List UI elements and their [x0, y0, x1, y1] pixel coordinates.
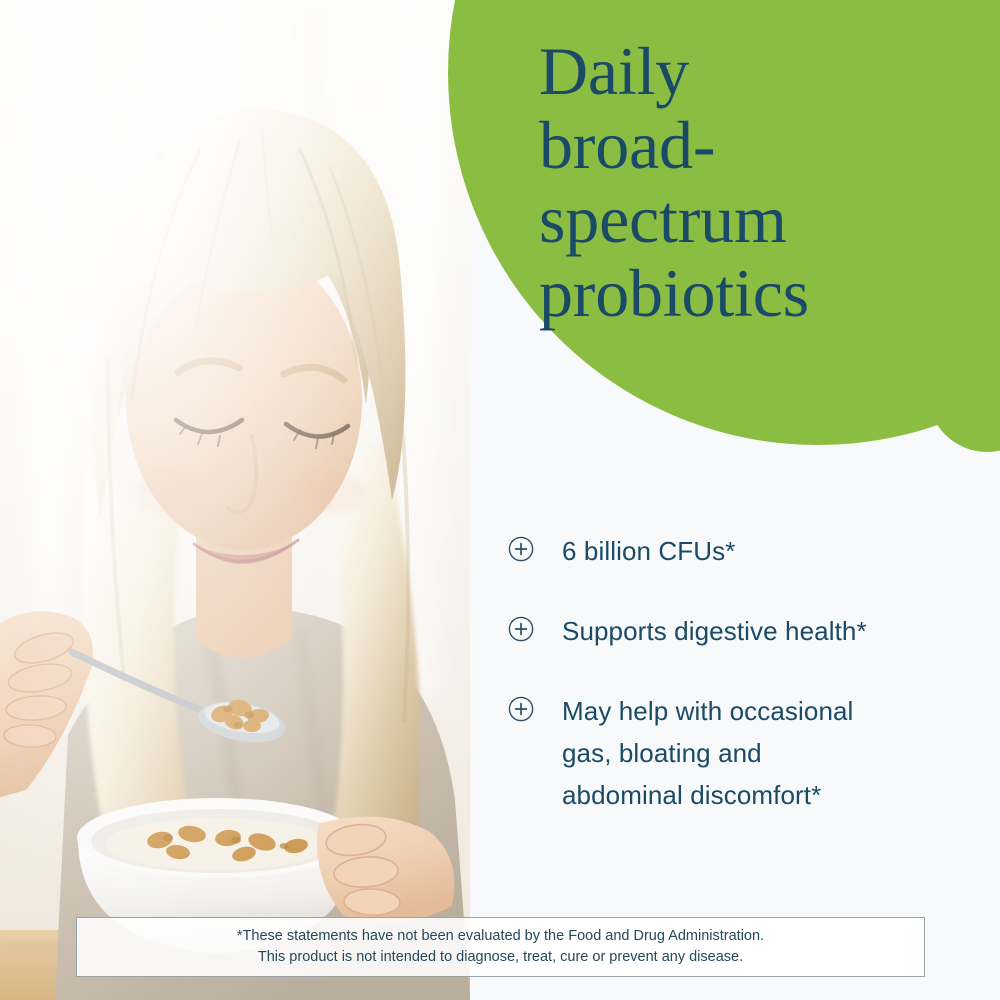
headline-line-2: broad-	[539, 108, 969, 182]
plus-circle-icon	[508, 696, 534, 722]
benefit-text: 6 billion CFUs*	[562, 530, 735, 572]
benefit-item-gas-bloating: May help with occasional gas, bloating a…	[508, 690, 968, 816]
benefit-line: abdominal discomfort*	[562, 774, 853, 816]
disclaimer-line-1: *These statements have not been evaluate…	[237, 926, 764, 947]
benefit-text: Supports digestive health*	[562, 610, 867, 652]
headline-line-1: Daily	[539, 34, 969, 108]
disclaimer-line-2: This product is not intended to diagnose…	[258, 947, 743, 968]
product-benefits-card: Daily broad- spectrum probiotics 6 billi…	[0, 0, 1000, 1000]
headline-line-4: probiotics	[539, 256, 969, 330]
benefit-item-digestive-health: Supports digestive health*	[508, 610, 968, 652]
benefit-item-cfus: 6 billion CFUs*	[508, 530, 968, 572]
fda-disclaimer-box: *These statements have not been evaluate…	[76, 917, 925, 977]
lifestyle-photo	[0, 0, 470, 1000]
benefit-line: gas, bloating and	[562, 732, 853, 774]
page-title: Daily broad- spectrum probiotics	[539, 34, 969, 330]
benefit-text: May help with occasional gas, bloating a…	[562, 690, 853, 816]
benefit-line: Supports digestive health*	[562, 610, 867, 652]
benefit-line: 6 billion CFUs*	[562, 530, 735, 572]
headline-line-3: spectrum	[539, 182, 969, 256]
plus-circle-icon	[508, 616, 534, 642]
plus-circle-icon	[508, 536, 534, 562]
photo-illustration	[0, 0, 470, 1000]
benefit-line: May help with occasional	[562, 690, 853, 732]
benefits-list: 6 billion CFUs* Supports digestive healt…	[508, 530, 968, 816]
